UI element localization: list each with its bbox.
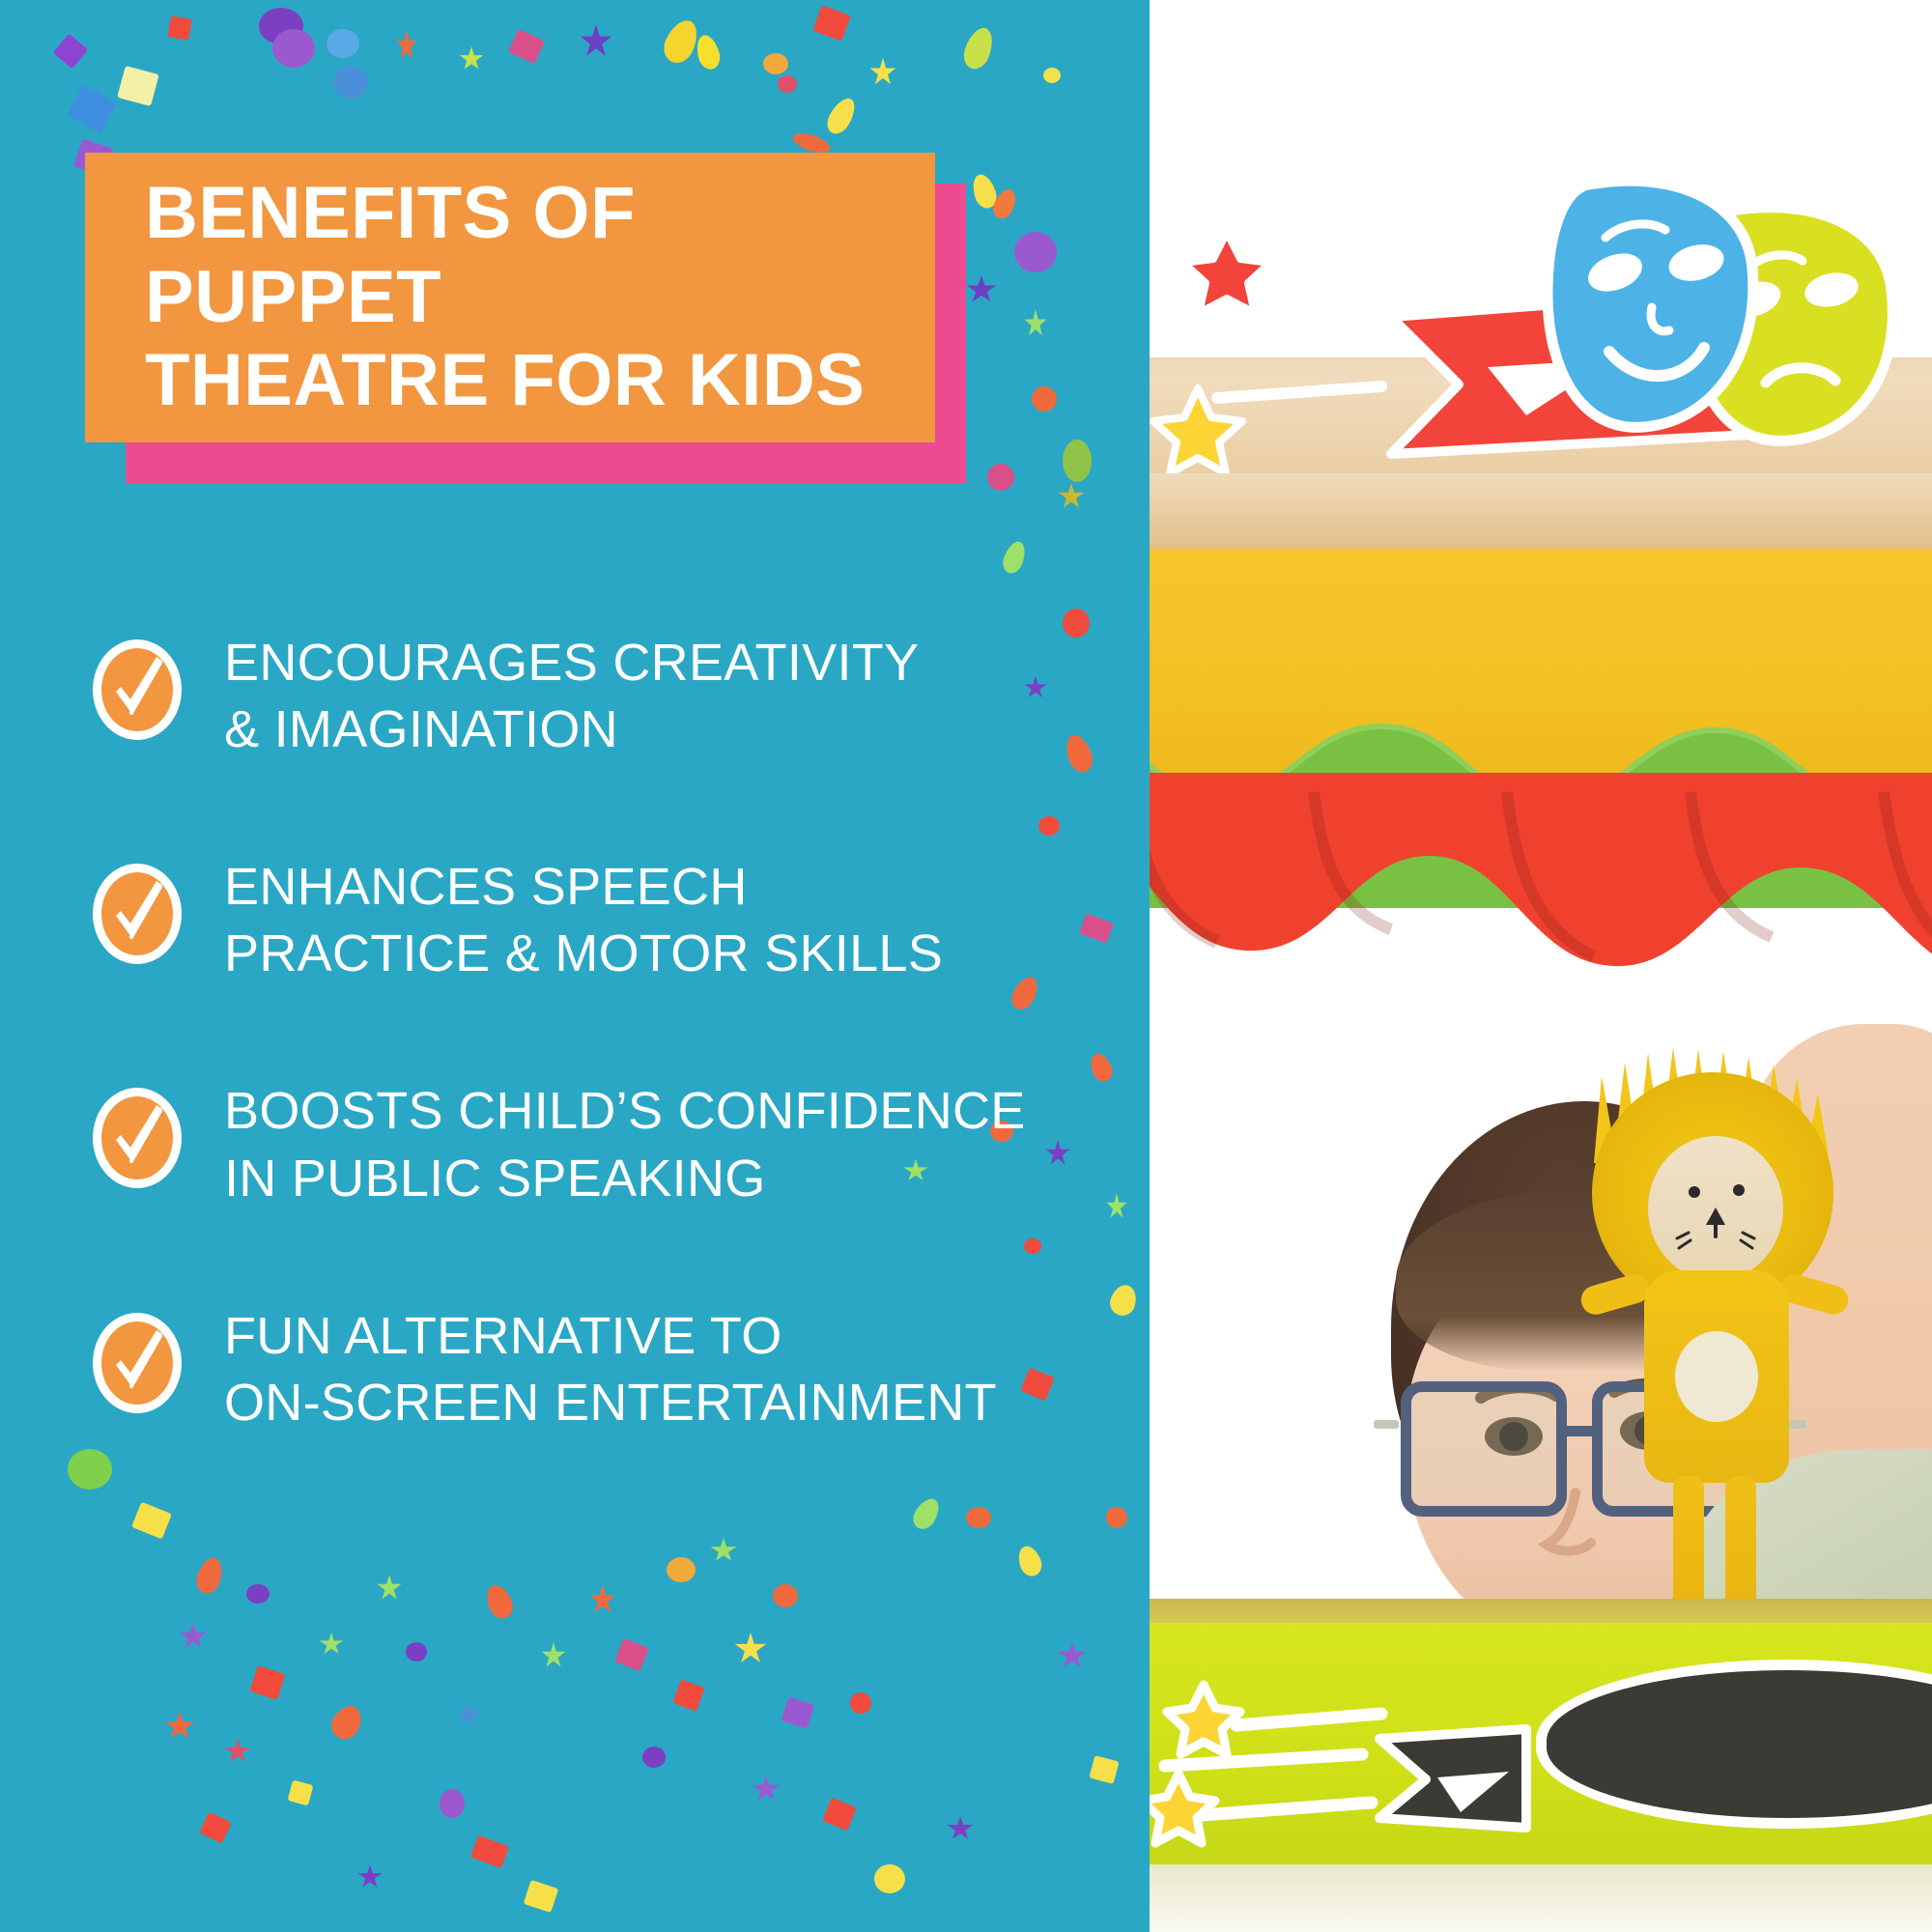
confetti-piece: [67, 85, 117, 134]
confetti-piece: [1107, 1282, 1141, 1319]
confetti-piece: [580, 24, 612, 59]
lion-left-arm: [1577, 1271, 1652, 1319]
confetti-piece: [1089, 1755, 1119, 1784]
confetti-piece: [327, 29, 359, 58]
benefit-label: ENCOURAGES CREATIVITY & IMAGINATION: [224, 626, 919, 763]
benefit-item: ENCOURAGES CREATIVITY & IMAGINATION: [93, 626, 1088, 763]
benefit-label: BOOSTS CHILD’S CONFIDENCE IN PUBLIC SPEA…: [224, 1074, 1026, 1211]
confetti-piece: [966, 275, 997, 304]
confetti-piece: [288, 1780, 314, 1806]
lion-facial-features: [1648, 1136, 1783, 1281]
confetti-piece: [199, 1812, 232, 1844]
confetti-piece: [524, 1880, 559, 1913]
confetti-piece: [752, 1776, 781, 1803]
confetti-piece: [470, 1835, 509, 1868]
confetti-piece: [377, 1575, 402, 1602]
confetti-piece: [259, 8, 303, 44]
stage-floor-reflection: [1150, 1864, 1932, 1932]
confetti-piece: [541, 1642, 566, 1669]
confetti-piece: [947, 1816, 974, 1841]
benefit-label: FUN ALTERNATIVE TO ON-SCREEN ENTERTAINME…: [224, 1299, 997, 1436]
confetti-piece: [763, 53, 788, 74]
photo-scene: [1150, 0, 1932, 1932]
confetti-piece: [734, 1633, 767, 1665]
confetti-piece: [1087, 1050, 1116, 1084]
confetti-piece: [1014, 1543, 1045, 1579]
confetti-piece: [246, 1584, 270, 1604]
left-info-panel: BENEFITS OF PUPPET THEATRE FOR KIDS ENCO…: [0, 0, 1150, 1932]
page-title: BENEFITS OF PUPPET THEATRE FOR KIDS: [145, 172, 935, 423]
confetti-piece: [179, 1623, 208, 1650]
confetti-piece: [1043, 68, 1061, 83]
confetti-piece: [1024, 309, 1047, 338]
benefit-item: ENHANCES SPEECH PRACTICE & MOTOR SKILLS: [93, 850, 1088, 987]
confetti-piece: [454, 1700, 483, 1729]
confetti-piece: [822, 94, 860, 138]
product-photo: [1150, 0, 1932, 1932]
poster-root: BENEFITS OF PUPPET THEATRE FOR KIDS ENCO…: [0, 0, 1932, 1932]
confetti-piece: [667, 1557, 696, 1582]
confetti-piece: [249, 1665, 285, 1700]
confetti-piece: [822, 1798, 857, 1832]
confetti-piece: [589, 1584, 616, 1615]
confetti-piece: [869, 58, 896, 87]
confetti-piece: [167, 15, 191, 40]
confetti-piece: [694, 33, 724, 71]
confetti-piece: [272, 29, 315, 68]
benefit-item: FUN ALTERNATIVE TO ON-SCREEN ENTERTAINME…: [93, 1299, 1088, 1436]
confetti-piece: [164, 1712, 195, 1741]
check-circle-icon: [93, 1313, 182, 1413]
confetti-piece: [773, 1584, 798, 1607]
confetti-piece: [327, 1700, 367, 1744]
confetti-piece: [1014, 232, 1057, 272]
confetti-piece: [710, 1538, 737, 1563]
confetti-piece: [440, 1789, 465, 1818]
confetti-piece: [959, 24, 997, 72]
confetti-piece: [1032, 386, 1057, 412]
check-circle-icon: [93, 1088, 182, 1188]
confetti-piece: [812, 5, 851, 41]
confetti-piece: [1058, 483, 1085, 510]
confetti-piece: [659, 15, 704, 68]
confetti-piece: [1106, 1193, 1127, 1220]
confetti-piece: [672, 1679, 704, 1711]
confetti-piece: [850, 1692, 871, 1714]
lion-finger-puppet: [1575, 1072, 1855, 1652]
confetti-piece: [1063, 440, 1092, 482]
confetti-piece: [193, 1554, 227, 1597]
confetti-piece: [53, 34, 89, 70]
confetti-piece: [508, 29, 545, 64]
confetti-piece: [1058, 1642, 1087, 1669]
glasses-left-temple: [1374, 1420, 1399, 1429]
confetti-piece: [482, 1581, 518, 1623]
valance-lower-edge: [1150, 473, 1932, 551]
confetti-piece: [117, 66, 159, 106]
confetti-piece: [1000, 539, 1029, 577]
confetti-piece: [874, 1864, 905, 1893]
confetti-piece: [614, 1638, 649, 1672]
benefits-list: ENCOURAGES CREATIVITY & IMAGINATIONENHAN…: [93, 626, 1088, 1523]
confetti-piece: [224, 1739, 251, 1764]
confetti-piece: [1106, 1507, 1127, 1528]
confetti-piece: [406, 1642, 427, 1662]
lion-belly: [1675, 1331, 1758, 1422]
confetti-piece: [357, 1864, 383, 1889]
theatre-masks-graphic: [1150, 145, 1932, 493]
glasses-left-lens: [1401, 1381, 1567, 1517]
confetti-piece: [781, 1696, 815, 1728]
confetti-piece: [459, 46, 484, 71]
confetti-piece: [333, 66, 368, 99]
confetti-piece: [319, 1633, 344, 1656]
confetti-piece: [987, 464, 1014, 491]
confetti-piece: [989, 185, 1020, 221]
confetti-piece: [642, 1747, 666, 1768]
check-circle-icon: [93, 639, 182, 740]
benefit-item: BOOSTS CHILD’S CONFIDENCE IN PUBLIC SPEA…: [93, 1074, 1088, 1211]
confetti-piece: [778, 75, 797, 93]
confetti-piece: [969, 171, 1000, 211]
check-circle-icon: [93, 864, 182, 964]
title-banner: BENEFITS OF PUPPET THEATRE FOR KIDS: [85, 153, 935, 442]
confetti-piece: [396, 29, 417, 62]
benefit-label: ENHANCES SPEECH PRACTICE & MOTOR SKILLS: [224, 850, 943, 987]
